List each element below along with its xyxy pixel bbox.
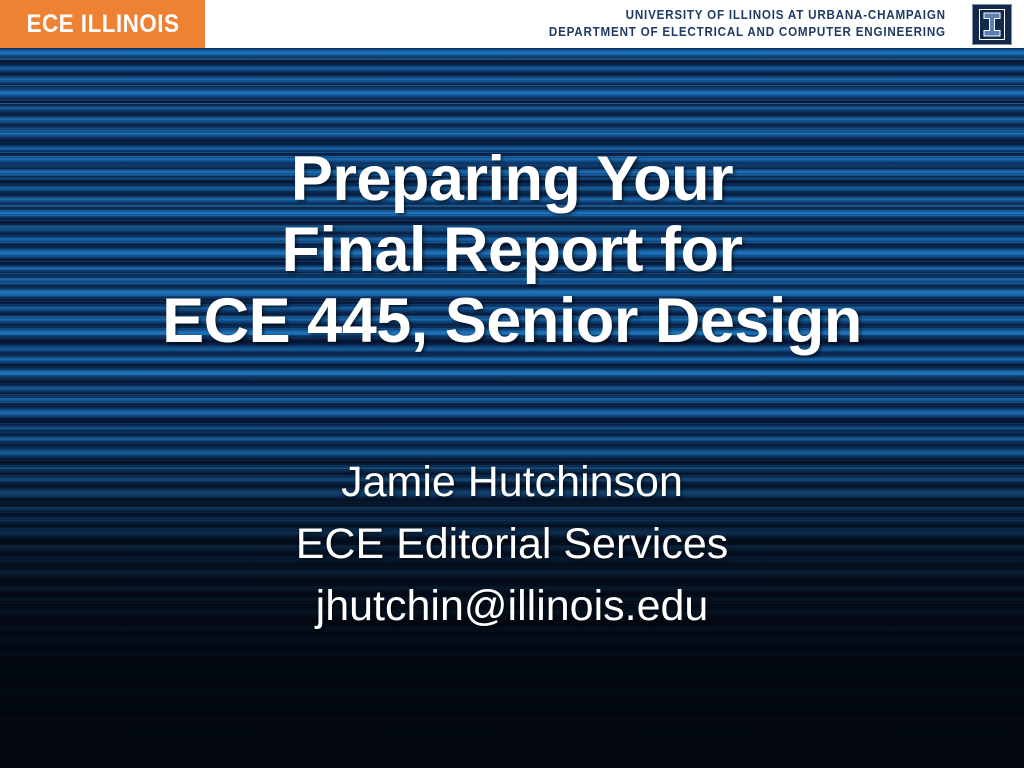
title-line-3: ECE 445, Senior Design (0, 286, 1024, 357)
university-name-line: UNIVERSITY OF ILLINOIS AT URBANA-CHAMPAI… (549, 7, 946, 24)
presentation-title-slide: ECE ILLINOIS UNIVERSITY OF ILLINOIS AT U… (0, 0, 1024, 768)
ece-illinois-brand-label: ECE ILLINOIS (26, 12, 179, 37)
presenter-affiliation: ECE Editorial Services (0, 513, 1024, 575)
ece-illinois-brand-block: ECE ILLINOIS (0, 0, 205, 48)
presenter-email: jhutchin@illinois.edu (0, 575, 1024, 637)
department-name-line: DEPARTMENT OF ELECTRICAL AND COMPUTER EN… (549, 24, 946, 41)
title-line-1: Preparing Your (0, 144, 1024, 215)
title-line-2: Final Report for (0, 215, 1024, 286)
illinois-block-i-icon (972, 4, 1012, 45)
slide-title: Preparing Your Final Report for ECE 445,… (0, 144, 1024, 357)
slide-subtitle: Jamie Hutchinson ECE Editorial Services … (0, 451, 1024, 637)
university-unit-text: UNIVERSITY OF ILLINOIS AT URBANA-CHAMPAI… (519, 7, 946, 41)
slide-content: Preparing Your Final Report for ECE 445,… (0, 48, 1024, 768)
presenter-name: Jamie Hutchinson (0, 451, 1024, 513)
slide-header-bar: ECE ILLINOIS UNIVERSITY OF ILLINOIS AT U… (0, 0, 1024, 48)
